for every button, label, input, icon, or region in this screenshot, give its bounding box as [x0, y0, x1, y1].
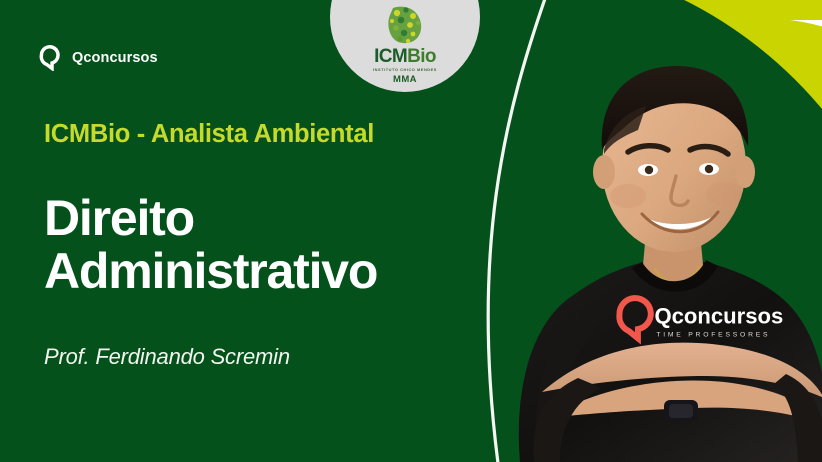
icmbio-word-ic: ICM: [374, 46, 407, 67]
pupil-left: [645, 166, 653, 174]
ear-right: [735, 156, 755, 188]
qconcursos-brand-logo: Qconcursos: [38, 44, 158, 71]
instructor-portrait: Qconcursos TIME PROFESSORES: [468, 0, 822, 462]
slide-canvas: Qconcursos TIME PROFESSORES Qconcursos: [0, 0, 822, 462]
course-eyebrow-label: ICMBio - Analista Ambiental: [44, 120, 474, 148]
page-title-line1: Direito: [44, 190, 194, 246]
cheek-right: [706, 182, 742, 206]
cheek-left: [610, 184, 646, 208]
icmbio-badge: ICMBio INSTITUTO CHICO MENDES MMA: [330, 0, 480, 92]
icmbio-wordmark: ICMBio: [374, 47, 436, 66]
ear-left: [593, 155, 615, 189]
page-title-line2: Administrativo: [44, 245, 474, 298]
shirt-brand-text: Qconcursos: [654, 304, 783, 329]
wristwatch-face: [669, 404, 693, 418]
page-title: Direito Administrativo: [44, 192, 474, 298]
pupil-right: [705, 165, 713, 173]
brand-name-label: Qconcursos: [72, 50, 158, 66]
icmbio-word-bio: Bio: [407, 46, 436, 67]
shirt-tagline-text: TIME PROFESSORES: [656, 331, 770, 338]
slide-copy-block: ICMBio - Analista Ambiental Direito Admi…: [44, 120, 474, 370]
icmbio-subtitle: INSTITUTO CHICO MENDES: [373, 68, 437, 72]
qconcursos-q-mark-icon: [38, 44, 63, 71]
icmbio-brazil-map-icon: [377, 4, 433, 46]
instructor-name-label: Prof. Ferdinando Scremin: [44, 344, 474, 370]
icmbio-ministry-label: MMA: [393, 75, 417, 85]
